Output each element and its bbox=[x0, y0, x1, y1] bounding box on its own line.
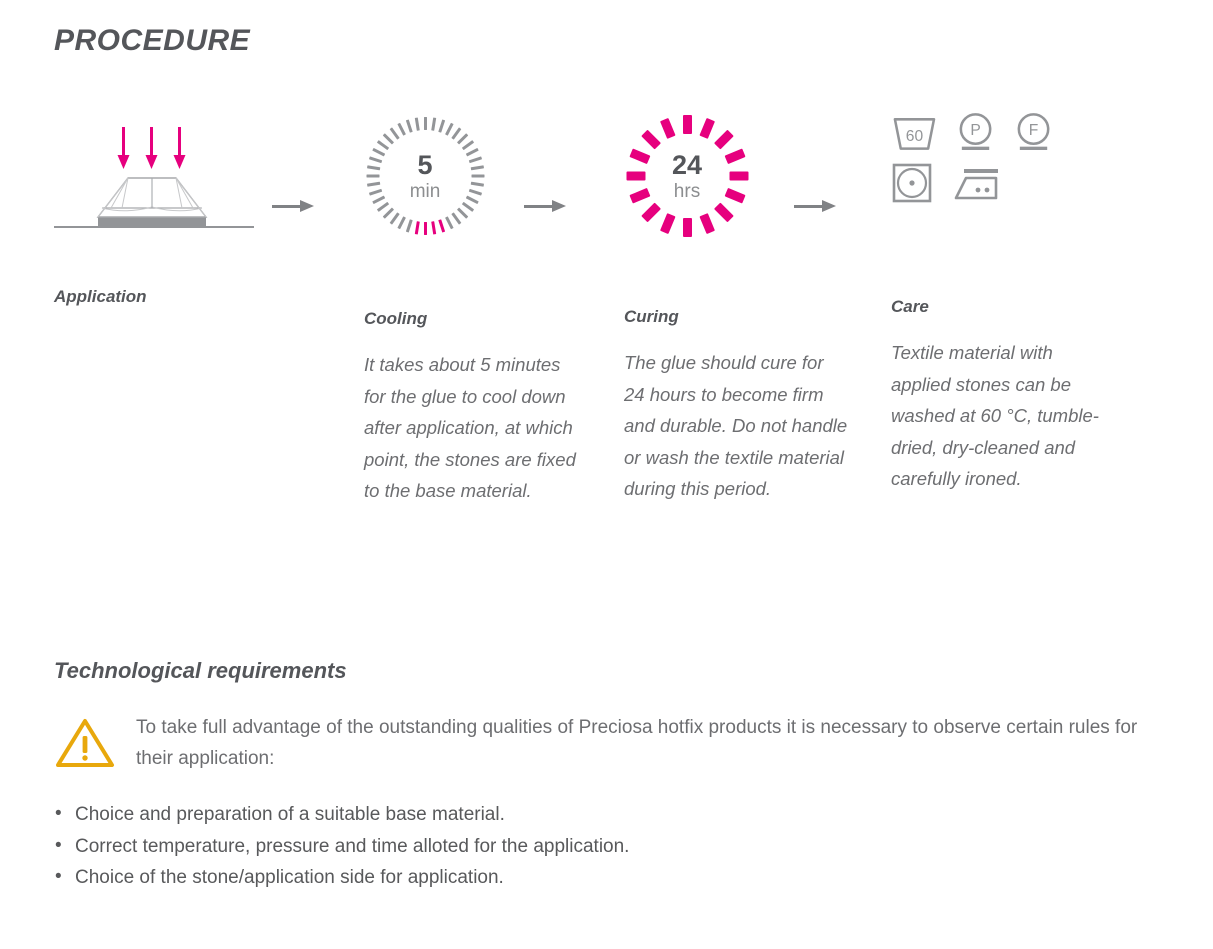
notice-block: To take full advantage of the outstandin… bbox=[54, 712, 1154, 775]
step-label-cooling: Cooling bbox=[364, 309, 579, 329]
tumble-dry-icon bbox=[891, 162, 935, 204]
arrow-shaft bbox=[794, 205, 824, 208]
care-symbol-row: 60 P F bbox=[891, 111, 1071, 153]
dryclean-f-text: F bbox=[1029, 122, 1039, 139]
care-symbols-icon: 60 P F bbox=[891, 111, 1071, 251]
dial-unit: min bbox=[410, 182, 441, 201]
dial-clock-icon: 5 min bbox=[366, 117, 484, 235]
wash-temp-text: 60 bbox=[906, 128, 924, 145]
wash-60-icon: 60 bbox=[891, 111, 938, 153]
hotfix-stone-pressure-icon bbox=[54, 115, 254, 250]
procedure-step-care: 60 P F bbox=[891, 105, 1106, 495]
care-illustration: 60 P F bbox=[891, 105, 1106, 255]
requirements-list: Choice and preparation of a suitable bas… bbox=[54, 799, 1154, 894]
dial-value: 24 bbox=[672, 152, 702, 179]
cooling-illustration: 5 min bbox=[364, 117, 579, 267]
care-symbol-row bbox=[891, 162, 1071, 204]
connector-arrow-1 bbox=[272, 200, 316, 212]
step-body-curing: The glue should cure for 24 hours to bec… bbox=[624, 347, 849, 505]
step-label-curing: Curing bbox=[624, 307, 849, 327]
dial-tick bbox=[366, 175, 379, 178]
curing-illustration: 24 hrs bbox=[624, 115, 849, 265]
step-label-application: Application bbox=[54, 287, 264, 307]
procedure-step-curing: 24 hrs Curing The glue should cure for 2… bbox=[624, 105, 849, 505]
connector-arrow-2 bbox=[524, 200, 568, 212]
procedure-steps: Application 5 min Cooling It takes about… bbox=[0, 105, 1213, 565]
arrow-shaft bbox=[272, 205, 302, 208]
dial-tick bbox=[683, 115, 692, 134]
dial-value: 5 bbox=[417, 152, 432, 179]
connector-arrow-3 bbox=[794, 200, 838, 212]
step-body-care: Textile material with applied stones can… bbox=[891, 337, 1106, 495]
list-item: Choice and preparation of a suitable bas… bbox=[54, 799, 1154, 831]
section-title: Technological requirements bbox=[54, 658, 1154, 684]
warning-triangle-icon bbox=[54, 716, 116, 770]
dial-tick bbox=[424, 117, 427, 130]
notice-text: To take full advantage of the outstandin… bbox=[120, 712, 1154, 774]
arrow-right-icon bbox=[822, 200, 836, 212]
technological-requirements-section: Technological requirements To take full … bbox=[54, 658, 1154, 894]
dial-tick bbox=[626, 172, 645, 181]
dial-tick bbox=[424, 222, 427, 235]
dial-unit: hrs bbox=[674, 182, 700, 201]
dial-burst-icon: 24 hrs bbox=[626, 115, 748, 237]
dryclean-p-text: P bbox=[970, 122, 980, 139]
step-label-care: Care bbox=[891, 297, 1106, 317]
dial-tick bbox=[471, 175, 484, 178]
procedure-step-cooling: 5 min Cooling It takes about 5 minutes f… bbox=[364, 105, 579, 507]
arrow-shaft bbox=[524, 205, 554, 208]
arrow-right-icon bbox=[552, 200, 566, 212]
list-item: Correct temperature, pressure and time a… bbox=[54, 831, 1154, 863]
dial-tick bbox=[729, 172, 748, 181]
dial-tick bbox=[683, 218, 692, 237]
notice-icon-wrap bbox=[54, 712, 120, 775]
iron-two-dots-icon bbox=[952, 162, 1004, 204]
list-item: Choice of the stone/application side for… bbox=[54, 862, 1154, 894]
application-illustration bbox=[54, 105, 264, 255]
arrow-right-icon bbox=[300, 200, 314, 212]
step-body-cooling: It takes about 5 minutes for the glue to… bbox=[364, 349, 579, 507]
dryclean-p-icon: P bbox=[955, 111, 996, 153]
procedure-step-application: Application bbox=[54, 105, 264, 327]
page-title: PROCEDURE bbox=[54, 24, 250, 58]
dryclean-f-icon: F bbox=[1013, 111, 1054, 153]
